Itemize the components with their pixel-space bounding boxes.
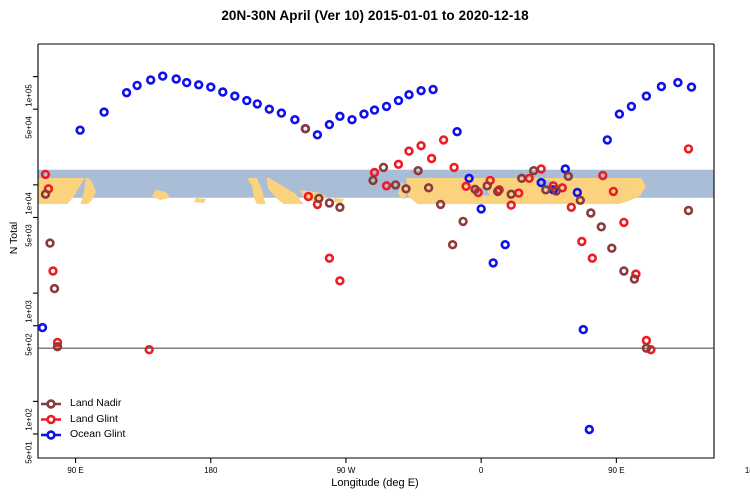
y-tick-label: 5e+03 [25, 216, 34, 256]
legend-item-label: Ocean Glint [70, 428, 125, 440]
scatter-plot-canvas [0, 0, 750, 500]
x-tick-label: 0 [451, 466, 511, 475]
x-tick-label: 90 E [586, 466, 646, 475]
y-tick-label: 5e+02 [25, 324, 34, 364]
y-axis-label: N Total [8, 198, 20, 278]
x-tick-label: 180 [722, 466, 750, 475]
x-tick-label: 90 W [316, 466, 376, 475]
x-tick-label: 90 E [46, 466, 106, 475]
legend-item-label: Land Glint [70, 413, 118, 425]
y-tick-label: 5e+04 [25, 108, 34, 148]
x-tick-label: 180 [181, 466, 241, 475]
y-tick-label: 5e+01 [25, 432, 34, 472]
x-axis-label: Longitude (deg E) [0, 477, 750, 489]
legend-item-label: Land Nadir [70, 397, 121, 409]
page-title: 20N-30N April (Ver 10) 2015-01-01 to 202… [0, 8, 750, 23]
